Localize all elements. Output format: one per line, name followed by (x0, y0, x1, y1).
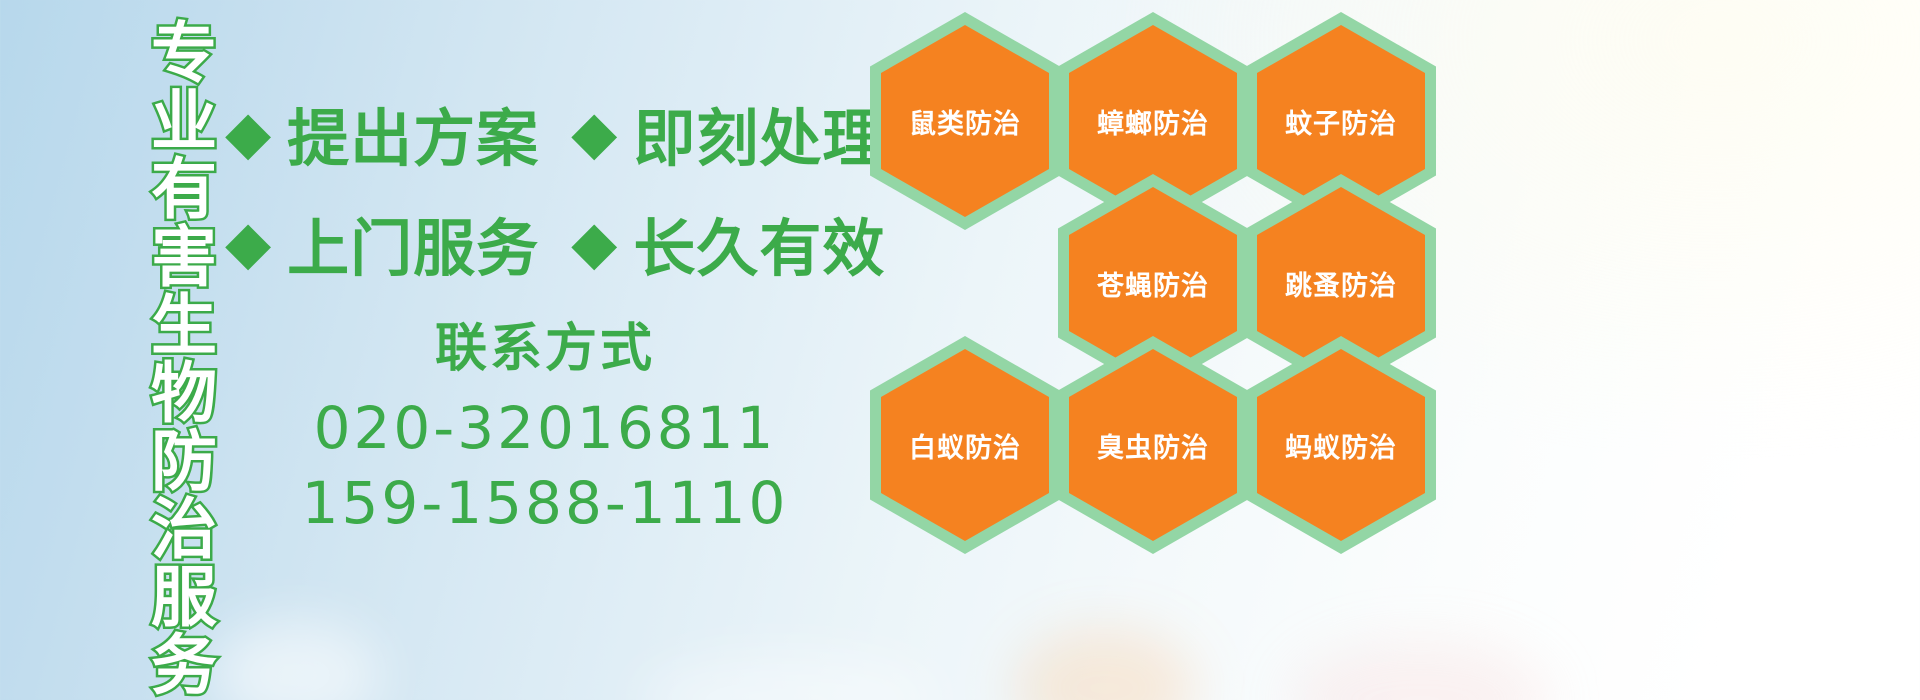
feature-list: ◆ 提出方案 ◆ 即刻处理 ◆ 上门服务 ◆ 长久有效 (225, 78, 865, 298)
service-label-ant: 蚂蚁防治 (1285, 426, 1397, 465)
hex-inner: 鼠类防治 (881, 25, 1049, 217)
hex-inner: 白蚁防治 (881, 349, 1049, 541)
service-label-cockroach: 蟑螂防治 (1097, 102, 1209, 141)
service-label-termite: 白蚁防治 (909, 426, 1021, 465)
diamond-bullet-icon: ◆ (571, 103, 617, 163)
hex-inner: 臭虫防治 (1069, 349, 1237, 541)
hex-inner: 蚂蚁防治 (1257, 349, 1425, 541)
vertical-headline: 专业有害生物防治服务 (108, 18, 212, 698)
service-label-rodent: 鼠类防治 (909, 102, 1021, 141)
feature-label-immediate-handling: 即刻处理 (633, 88, 885, 178)
service-label-flea: 跳蚤防治 (1285, 264, 1397, 303)
diamond-bullet-icon: ◆ (571, 213, 617, 273)
service-hex-ant[interactable]: 蚂蚁防治 (1246, 336, 1436, 554)
feature-label-onsite-service: 上门服务 (287, 198, 539, 288)
feature-row-1: ◆ 提出方案 ◆ 即刻处理 (225, 78, 865, 188)
contact-phone-mobile[interactable]: 159-1588-1110 (225, 466, 865, 541)
service-hex-bedbug[interactable]: 臭虫防治 (1058, 336, 1248, 554)
feature-row-2: ◆ 上门服务 ◆ 长久有效 (225, 188, 865, 298)
contact-block: 联系方式 020-32016811 159-1588-1110 (225, 306, 865, 542)
diamond-bullet-icon: ◆ (225, 103, 271, 163)
service-hex-rodent[interactable]: 鼠类防治 (870, 12, 1060, 230)
contact-phone-landline[interactable]: 020-32016811 (225, 391, 865, 466)
service-label-mosquito: 蚊子防治 (1285, 102, 1397, 141)
background-blob-orange (1015, 628, 1195, 700)
background-blob-right (1290, 640, 1550, 700)
background-blob-left (210, 620, 380, 700)
service-honeycomb: 鼠类防治 蟑螂防治 蚊子防治 苍蝇防治 跳蚤防治 白蚁防治 臭虫防治 蚂蚁防治 (862, 0, 1462, 574)
feature-label-propose-plan: 提出方案 (287, 88, 539, 178)
diamond-bullet-icon: ◆ (225, 213, 271, 273)
service-label-bedbug: 臭虫防治 (1097, 426, 1209, 465)
service-label-fly: 苍蝇防治 (1097, 264, 1209, 303)
contact-title: 联系方式 (225, 306, 865, 381)
feature-label-long-lasting: 长久有效 (633, 198, 885, 288)
service-hex-termite[interactable]: 白蚁防治 (870, 336, 1060, 554)
background-blob-center (640, 655, 940, 700)
